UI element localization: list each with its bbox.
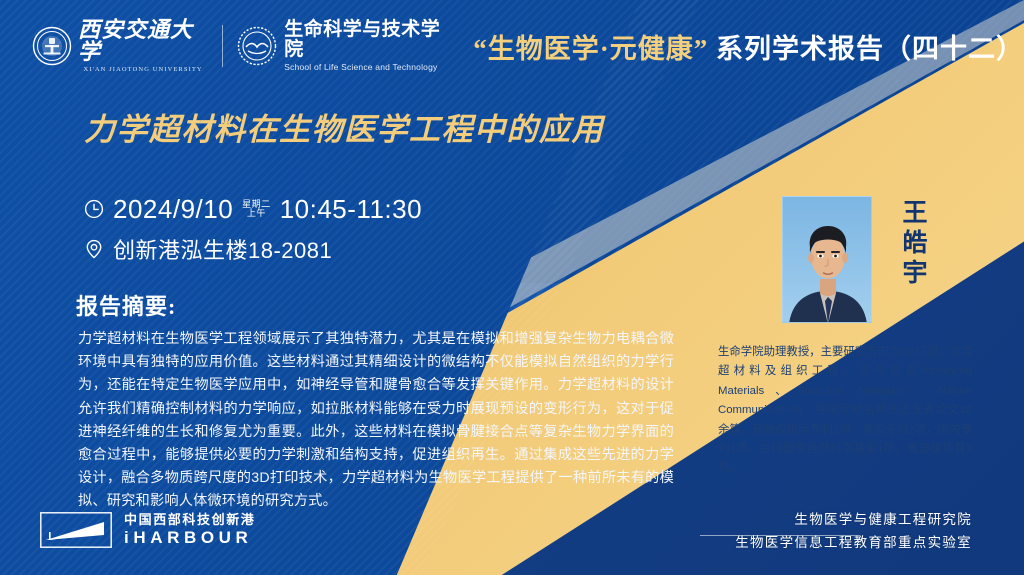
xjtu-name-en: XI'AN JIAOTONG UNIVERSITY: [84, 66, 203, 73]
speaker-bio: 生命学院助理教授，主要研究方向为3D打印、力学超材料及组织工程。迄今已在Adva…: [718, 343, 972, 479]
speaker-portrait: [783, 197, 872, 323]
iharbour-wordmark: 中国西部科技创新港 iHARBOUR: [124, 512, 255, 547]
talk-title: 力学超材料在生物医学工程中的应用: [84, 104, 604, 149]
iharbour-name-cn: 中国西部科技创新港: [124, 512, 255, 528]
xjtu-name-cn: 西安交通大学: [78, 19, 208, 63]
abstract-body: 力学超材料在生物医学工程领域展示了其独特潜力，尤其是在模拟和增强复杂生物力电耦合…: [78, 328, 674, 514]
seminar-poster: 西安交通大学 XI'AN JIAOTONG UNIVERSITY 生命科学与技术…: [0, 0, 1024, 575]
talk-location: 创新港泓生楼18-2081: [113, 233, 332, 265]
iharbour-name-en: iHARBOUR: [124, 528, 255, 548]
xjtu-wordmark: 西安交通大学 XI'AN JIAOTONG UNIVERSITY: [78, 19, 208, 73]
location-pin-icon: [84, 239, 104, 259]
speaker-name: 王皓宇: [898, 199, 926, 289]
school-logo-group: 生命科学与技术学院 School of Life Science and Tec…: [237, 20, 447, 72]
logo-group: 西安交通大学 XI'AN JIAOTONG UNIVERSITY 生命科学与技术…: [0, 19, 447, 73]
clock-icon: [84, 199, 104, 219]
talk-meta: 2024/9/10 星期二 上午 10:45-11:30 创新港泓生楼18-20…: [84, 192, 422, 266]
organizer-line-2: 生物医学信息工程教育部重点实验室: [735, 531, 972, 554]
iharbour-footer: 中国西部科技创新港 iHARBOUR: [40, 512, 255, 548]
talk-weekday-period: 星期二 上午: [242, 200, 271, 219]
series-title-gold: “生物医学·元健康”: [473, 34, 708, 64]
school-name-en: School of Life Science and Technology: [284, 62, 447, 72]
organizer-footer: 生物医学与健康工程研究院 生物医学信息工程教育部重点实验室: [735, 508, 972, 554]
speaker-photo: [782, 196, 872, 323]
series-title-white: 系列学术报告（四十二）: [708, 34, 1024, 64]
abstract-heading: 报告摘要:: [76, 289, 176, 321]
iharbour-sail-icon: [40, 512, 112, 548]
talk-date: 2024/9/10: [113, 194, 233, 225]
school-name-cn: 生命科学与技术学院: [284, 20, 447, 60]
university-seal-icon: [32, 26, 72, 66]
poster-header: 西安交通大学 XI'AN JIAOTONG UNIVERSITY 生命科学与技术…: [0, 0, 1024, 92]
organizer-line-1: 生物医学与健康工程研究院: [735, 508, 972, 531]
talk-period: 上午: [247, 209, 266, 218]
school-wordmark: 生命科学与技术学院 School of Life Science and Tec…: [284, 20, 447, 72]
header-divider: [222, 25, 223, 67]
series-title: “生物医学·元健康” 系列学术报告（四十二）: [473, 27, 1024, 66]
talk-time: 10:45-11:30: [280, 194, 422, 225]
school-seal-icon: [237, 26, 277, 66]
talk-location-row: 创新港泓生楼18-2081: [84, 232, 422, 266]
talk-datetime-row: 2024/9/10 星期二 上午 10:45-11:30: [84, 192, 422, 226]
